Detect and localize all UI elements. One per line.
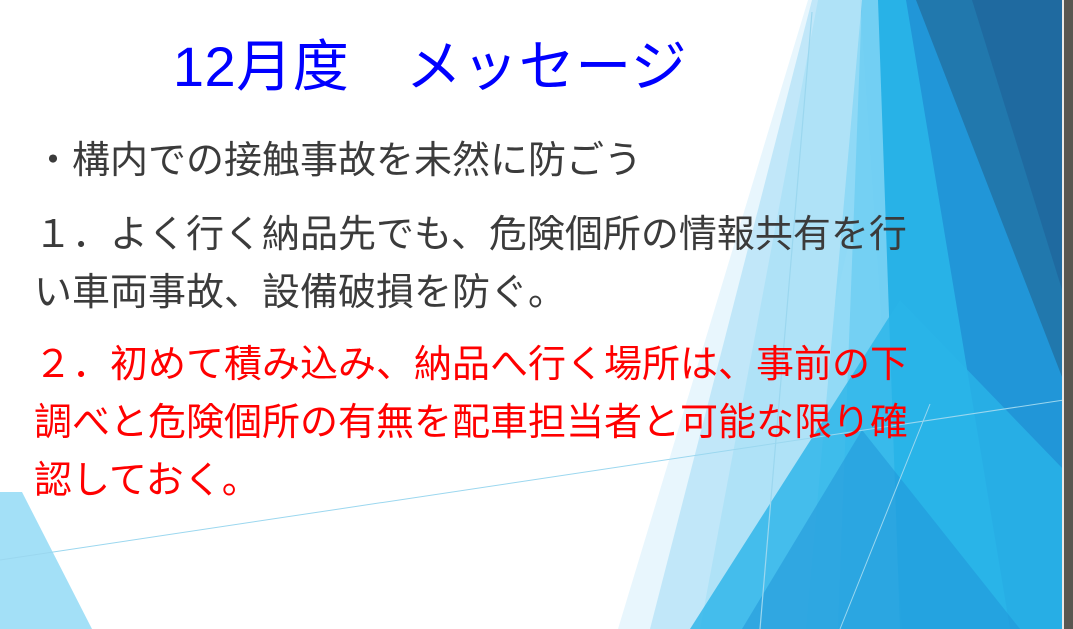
body-paragraph-item-1: １．よく行く納品先でも、危険個所の情報共有を行い車両事故、設備破損を防ぐ。 bbox=[34, 207, 934, 323]
presentation-slide: 12月度 メッセージ ・構内での接触事故を未然に防ごう １．よく行く納品先でも、… bbox=[0, 0, 1073, 629]
slide-right-frame-edge bbox=[1062, 0, 1073, 629]
body-paragraph-item-2: ２．初めて積み込み、納品へ行く場所は、事前の下調べと危険個所の有無を配車担当者と… bbox=[34, 337, 934, 510]
body-paragraph-headline: ・構内での接触事故を未然に防ごう bbox=[34, 133, 934, 191]
page-title: 12月度 メッセージ bbox=[0, 38, 860, 97]
slide-content: 12月度 メッセージ ・構内での接触事故を未然に防ごう １．よく行く納品先でも、… bbox=[0, 0, 1073, 629]
